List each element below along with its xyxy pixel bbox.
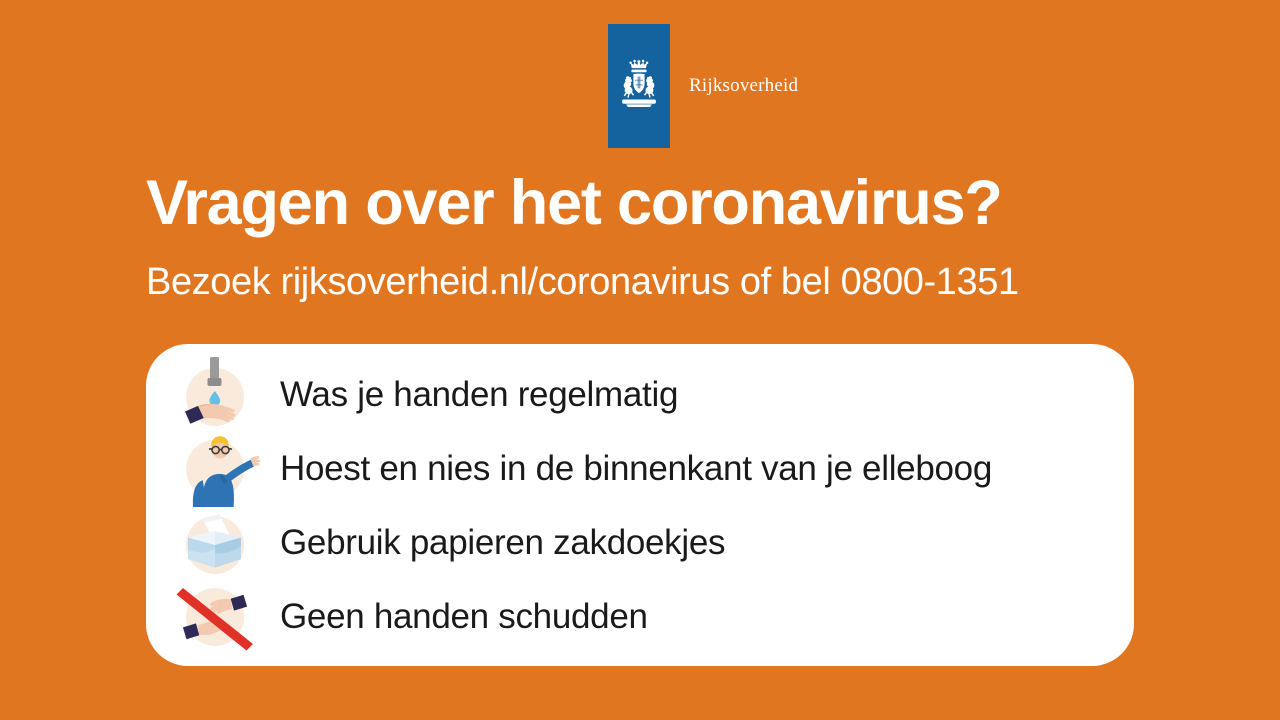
tissue-box-icon (168, 505, 262, 581)
list-item: Was je handen regelmatig (146, 358, 1134, 432)
logo-blue-bar (608, 24, 670, 148)
cough-into-elbow-icon (168, 431, 262, 507)
list-item: Hoest en nies in de binnenkant van je el… (146, 432, 1134, 506)
list-item-label: Geen handen schudden (280, 597, 648, 637)
page-subtitle: Bezoek rijksoverheid.nl/coronavirus of b… (146, 262, 1019, 304)
list-item: Gebruik papieren zakdoekjes (146, 506, 1134, 580)
no-handshake-icon (168, 579, 262, 655)
list-item-label: Hoest en nies in de binnenkant van je el… (280, 449, 992, 489)
washing-hands-icon (168, 357, 262, 433)
page-title: Vragen over het coronavirus? (146, 172, 1002, 235)
list-item: Geen handen schudden (146, 580, 1134, 654)
dutch-coat-of-arms-icon (613, 58, 665, 114)
logo-wordmark: Rijksoverheid (689, 75, 798, 97)
list-item-label: Was je handen regelmatig (280, 375, 678, 415)
rijksoverheid-logo: Rijksoverheid (608, 24, 798, 148)
prevention-tips-card: Was je handen regelmatig Hoest en nies i… (146, 344, 1134, 666)
list-item-label: Gebruik papieren zakdoekjes (280, 523, 725, 563)
